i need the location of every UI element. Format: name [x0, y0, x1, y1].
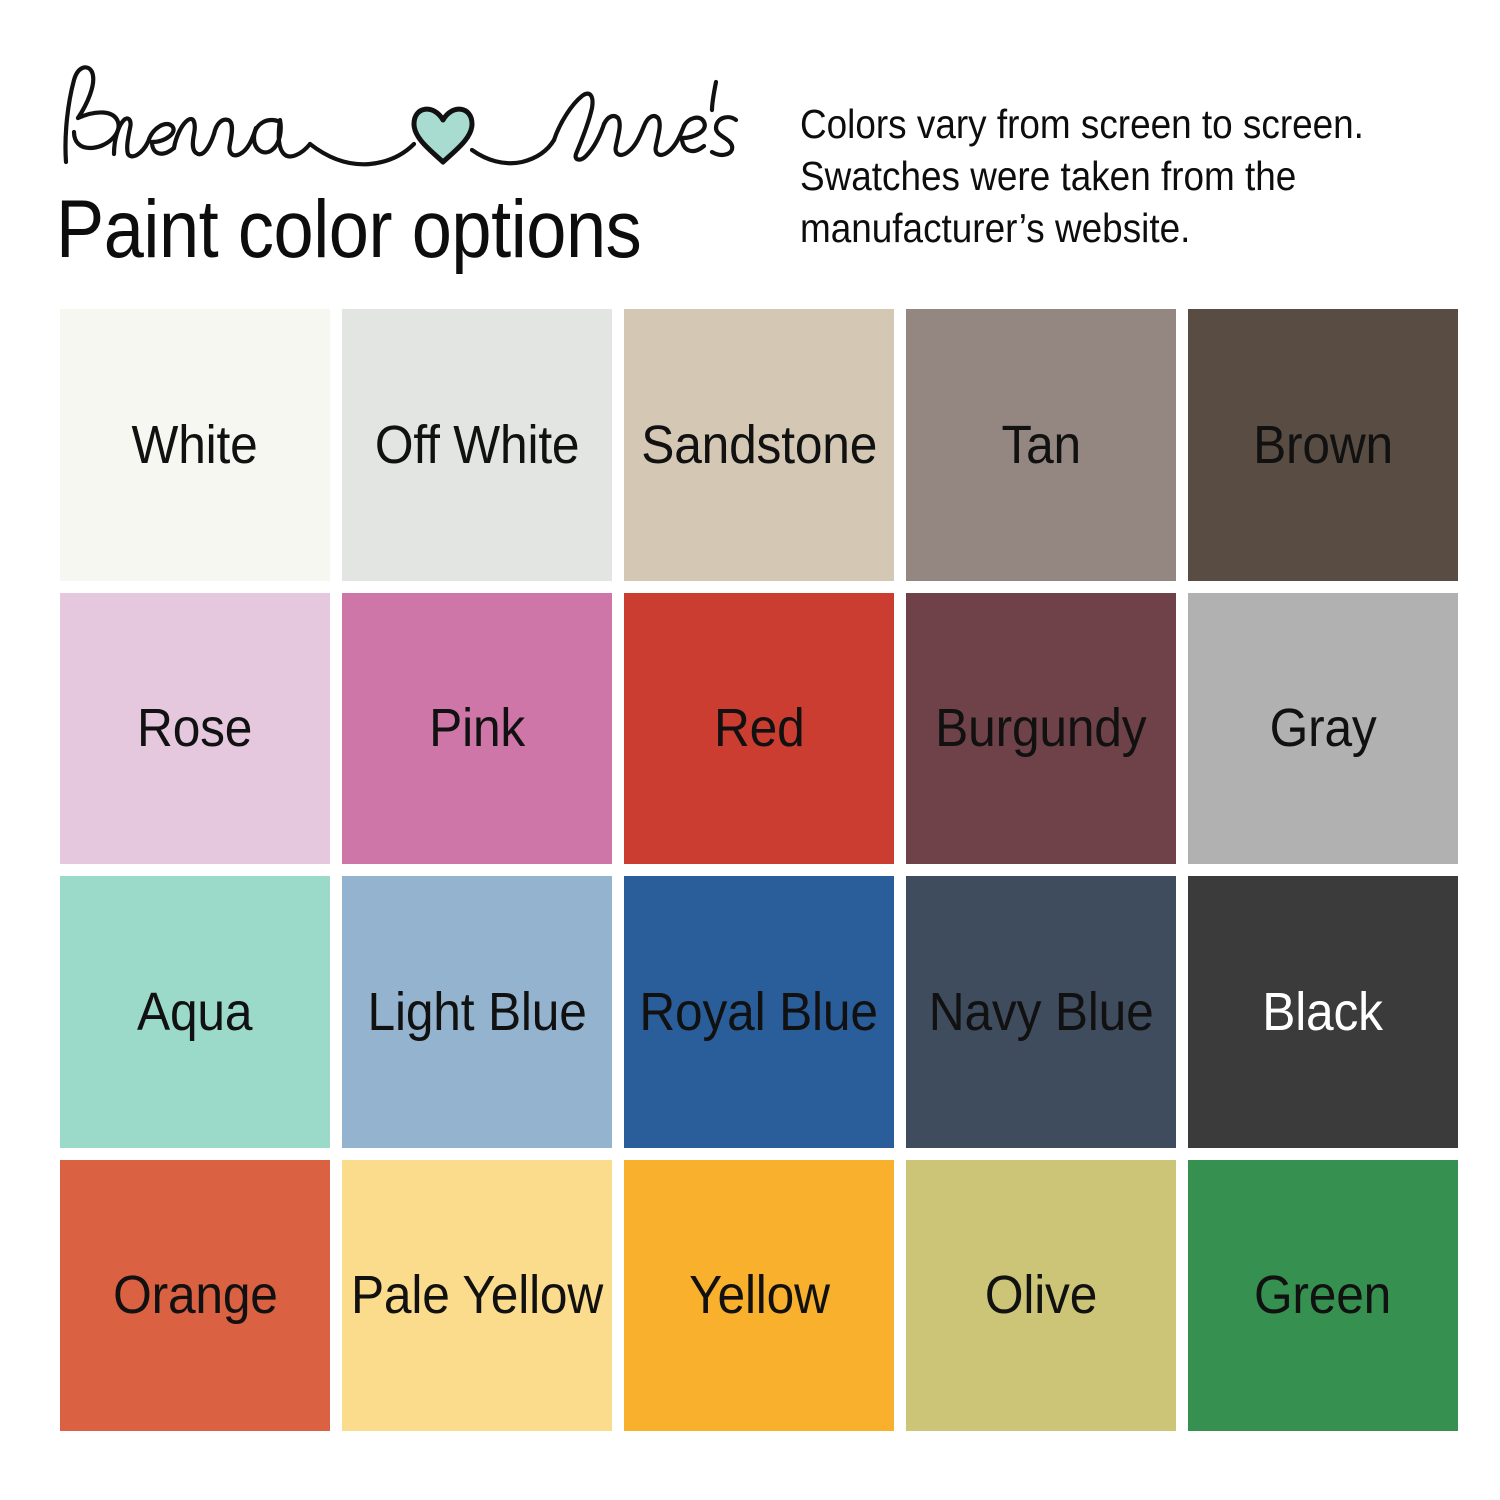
disclaimer-text: Colors vary from screen to screen. Swatc…	[800, 98, 1421, 254]
disclaimer-line-3: manufacturer’s website.	[800, 202, 1421, 254]
paint-swatch[interactable]: Yellow	[624, 1160, 894, 1432]
paint-swatch-label: Rose	[137, 699, 252, 757]
paint-swatch-label: Olive	[985, 1266, 1097, 1324]
paint-swatch[interactable]: Orange	[60, 1160, 330, 1432]
paint-swatch-label: Black	[1263, 983, 1384, 1041]
paint-swatch[interactable]: Royal Blue	[624, 876, 894, 1148]
paint-swatch[interactable]: Sandstone	[624, 309, 894, 581]
page-title: Paint color options	[56, 186, 641, 274]
paint-swatch-label: Royal Blue	[640, 983, 878, 1041]
paint-swatch-label: Pink	[429, 699, 525, 757]
paint-swatch-label: White	[132, 416, 258, 474]
paint-swatch[interactable]: Brown	[1188, 309, 1458, 581]
disclaimer-line-2: Swatches were taken from the	[800, 150, 1421, 202]
paint-swatch[interactable]: Black	[1188, 876, 1458, 1148]
paint-swatch[interactable]: Gray	[1188, 593, 1458, 865]
page-header: Paint color options Colors vary from scr…	[0, 0, 1500, 300]
paint-swatch[interactable]: Burgundy	[906, 593, 1176, 865]
brand-script-logo	[52, 62, 767, 172]
paint-swatch-label: Tan	[1001, 416, 1081, 474]
disclaimer-line-1: Colors vary from screen to screen.	[800, 98, 1421, 150]
paint-color-options-page: Paint color options Colors vary from scr…	[0, 0, 1500, 1500]
paint-swatch[interactable]: Navy Blue	[906, 876, 1176, 1148]
paint-swatch[interactable]: Green	[1188, 1160, 1458, 1432]
paint-swatch-label: Aqua	[137, 983, 252, 1041]
paint-swatch-label: Brown	[1253, 416, 1393, 474]
paint-swatch-label: Red	[714, 699, 805, 757]
paint-swatch-label: Sandstone	[641, 416, 877, 474]
brand-logo-block	[52, 62, 782, 172]
paint-swatch-label: Light Blue	[367, 983, 586, 1041]
paint-swatch[interactable]: White	[60, 309, 330, 581]
paint-swatch-label: Navy Blue	[929, 983, 1154, 1041]
paint-swatch-grid: WhiteOff WhiteSandstoneTanBrownRosePinkR…	[60, 309, 1458, 1431]
paint-swatch-label: Orange	[113, 1266, 278, 1324]
paint-swatch[interactable]: Pale Yellow	[342, 1160, 612, 1432]
heart-icon	[414, 109, 472, 162]
paint-swatch-label: Off White	[375, 416, 579, 474]
paint-swatch[interactable]: Off White	[342, 309, 612, 581]
paint-swatch-label: Gray	[1270, 699, 1377, 757]
paint-swatch-label: Burgundy	[935, 699, 1146, 757]
paint-swatch[interactable]: Tan	[906, 309, 1176, 581]
paint-swatch-label: Green	[1254, 1266, 1391, 1324]
paint-swatch[interactable]: Rose	[60, 593, 330, 865]
paint-swatch-label: Yellow	[689, 1266, 830, 1324]
paint-swatch[interactable]: Aqua	[60, 876, 330, 1148]
paint-swatch[interactable]: Red	[624, 593, 894, 865]
paint-swatch[interactable]: Olive	[906, 1160, 1176, 1432]
paint-swatch[interactable]: Pink	[342, 593, 612, 865]
paint-swatch-label: Pale Yellow	[351, 1266, 603, 1324]
paint-swatch[interactable]: Light Blue	[342, 876, 612, 1148]
